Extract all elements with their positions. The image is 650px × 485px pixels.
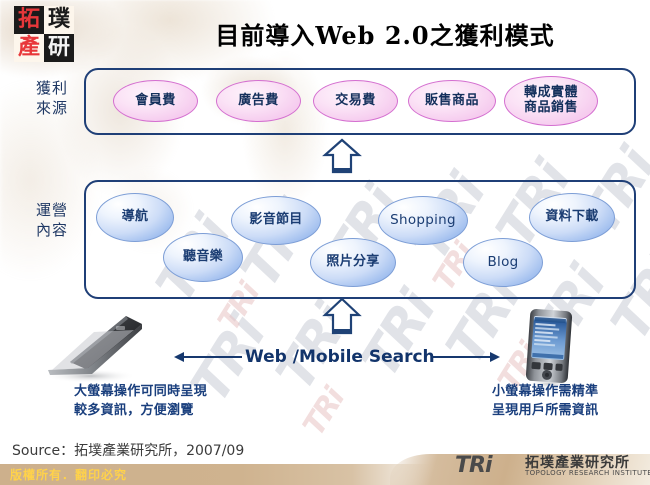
laptop-caption-line-2: 較多資訊，方便瀏覽: [74, 402, 207, 421]
profit-item-label: 販售商品: [425, 94, 479, 109]
content-item-label: 導航: [122, 210, 149, 225]
company-seal-logo: 拓 璞 產 研: [14, 6, 74, 62]
pda-caption-line-1: 小螢幕操作需精準: [492, 383, 598, 402]
pda-caption-line-2: 呈現用戶所需資訊: [492, 402, 598, 421]
content-item-label: Shopping: [390, 213, 456, 229]
content-item-data-download[interactable]: 資料下載: [529, 193, 615, 242]
search-arrow-left-line: [184, 356, 242, 358]
search-label: Web /Mobile Search: [245, 347, 435, 367]
label-profit-source-line-2: 來源: [26, 98, 78, 118]
label-operating-content: 運營 內容: [26, 200, 78, 241]
label-operating-content-line-1: 運營: [26, 200, 78, 220]
content-item-listen-music[interactable]: 聽音樂: [163, 233, 243, 282]
page-title: 目前導入Web 2.0之獲利模式: [175, 16, 595, 51]
content-item-label: 影音節目: [249, 213, 302, 228]
profit-item-advertising-fee[interactable]: 廣告費: [216, 80, 301, 122]
search-arrow-left-head: [174, 352, 184, 362]
slide-canvas: TRi TRi TRi TRi TRi TRi TRi TRi TRi TRi …: [0, 0, 650, 485]
label-profit-source: 獲利 來源: [26, 78, 78, 119]
pda-icon: [520, 308, 578, 390]
up-arrow-search-to-content: [322, 296, 362, 340]
profit-item-label-line-2: 商品銷售: [524, 101, 578, 116]
laptop-caption-line-1: 大螢幕操作可同時呈現: [74, 383, 207, 402]
logo-char-3: 產: [14, 34, 44, 62]
footer-copyright: 版權所有．翻印必究: [10, 466, 127, 483]
profit-item-membership-fee[interactable]: 會員費: [113, 80, 198, 122]
profit-item-label-line-1: 轉成實體: [524, 86, 578, 101]
content-item-video-program[interactable]: 影音節目: [231, 196, 321, 245]
tri-wordmark: TRi: [455, 453, 492, 478]
profit-item-physical-goods-sales[interactable]: 轉成實體 商品銷售: [504, 76, 598, 126]
tri-brand-logo: TRi 拓墣產業研究所 TOPOLOGY RESEARCH INSTITUTE: [455, 452, 645, 482]
pda-caption: 小螢幕操作需精準 呈現用戶所需資訊: [492, 383, 598, 421]
profit-item-transaction-fee[interactable]: 交易費: [313, 80, 398, 122]
profit-item-label: 交易費: [335, 94, 376, 109]
search-arrow-right-head: [490, 352, 500, 362]
laptop-icon: [30, 312, 146, 384]
profit-item-goods-sales[interactable]: 販售商品: [408, 80, 496, 122]
content-item-label: Blog: [487, 255, 518, 271]
laptop-caption: 大螢幕操作可同時呈現 較多資訊，方便瀏覽: [74, 383, 207, 421]
label-profit-source-line-1: 獲利: [26, 78, 78, 98]
search-arrow-right-line: [432, 356, 490, 358]
source-note: Source：拓墣產業研究所，2007/09: [12, 440, 244, 460]
content-item-shopping[interactable]: Shopping: [378, 196, 468, 245]
logo-char-4: 研: [44, 34, 74, 62]
profit-item-label: 廣告費: [238, 94, 279, 109]
content-item-navigation[interactable]: 導航: [96, 193, 174, 242]
label-operating-content-line-2: 內容: [26, 220, 78, 240]
content-item-photo-sharing[interactable]: 照片分享: [310, 238, 396, 287]
logo-char-2: 璞: [44, 6, 74, 34]
logo-char-1: 拓: [14, 6, 44, 34]
content-item-label: 聽音樂: [183, 250, 223, 265]
up-arrow-content-to-profit: [322, 138, 362, 178]
content-item-label: 資料下載: [545, 210, 598, 225]
tri-brand-name-en: TOPOLOGY RESEARCH INSTITUTE: [525, 469, 650, 477]
content-item-label: 照片分享: [326, 255, 379, 270]
content-item-blog[interactable]: Blog: [463, 238, 543, 287]
profit-item-label: 會員費: [135, 94, 176, 109]
